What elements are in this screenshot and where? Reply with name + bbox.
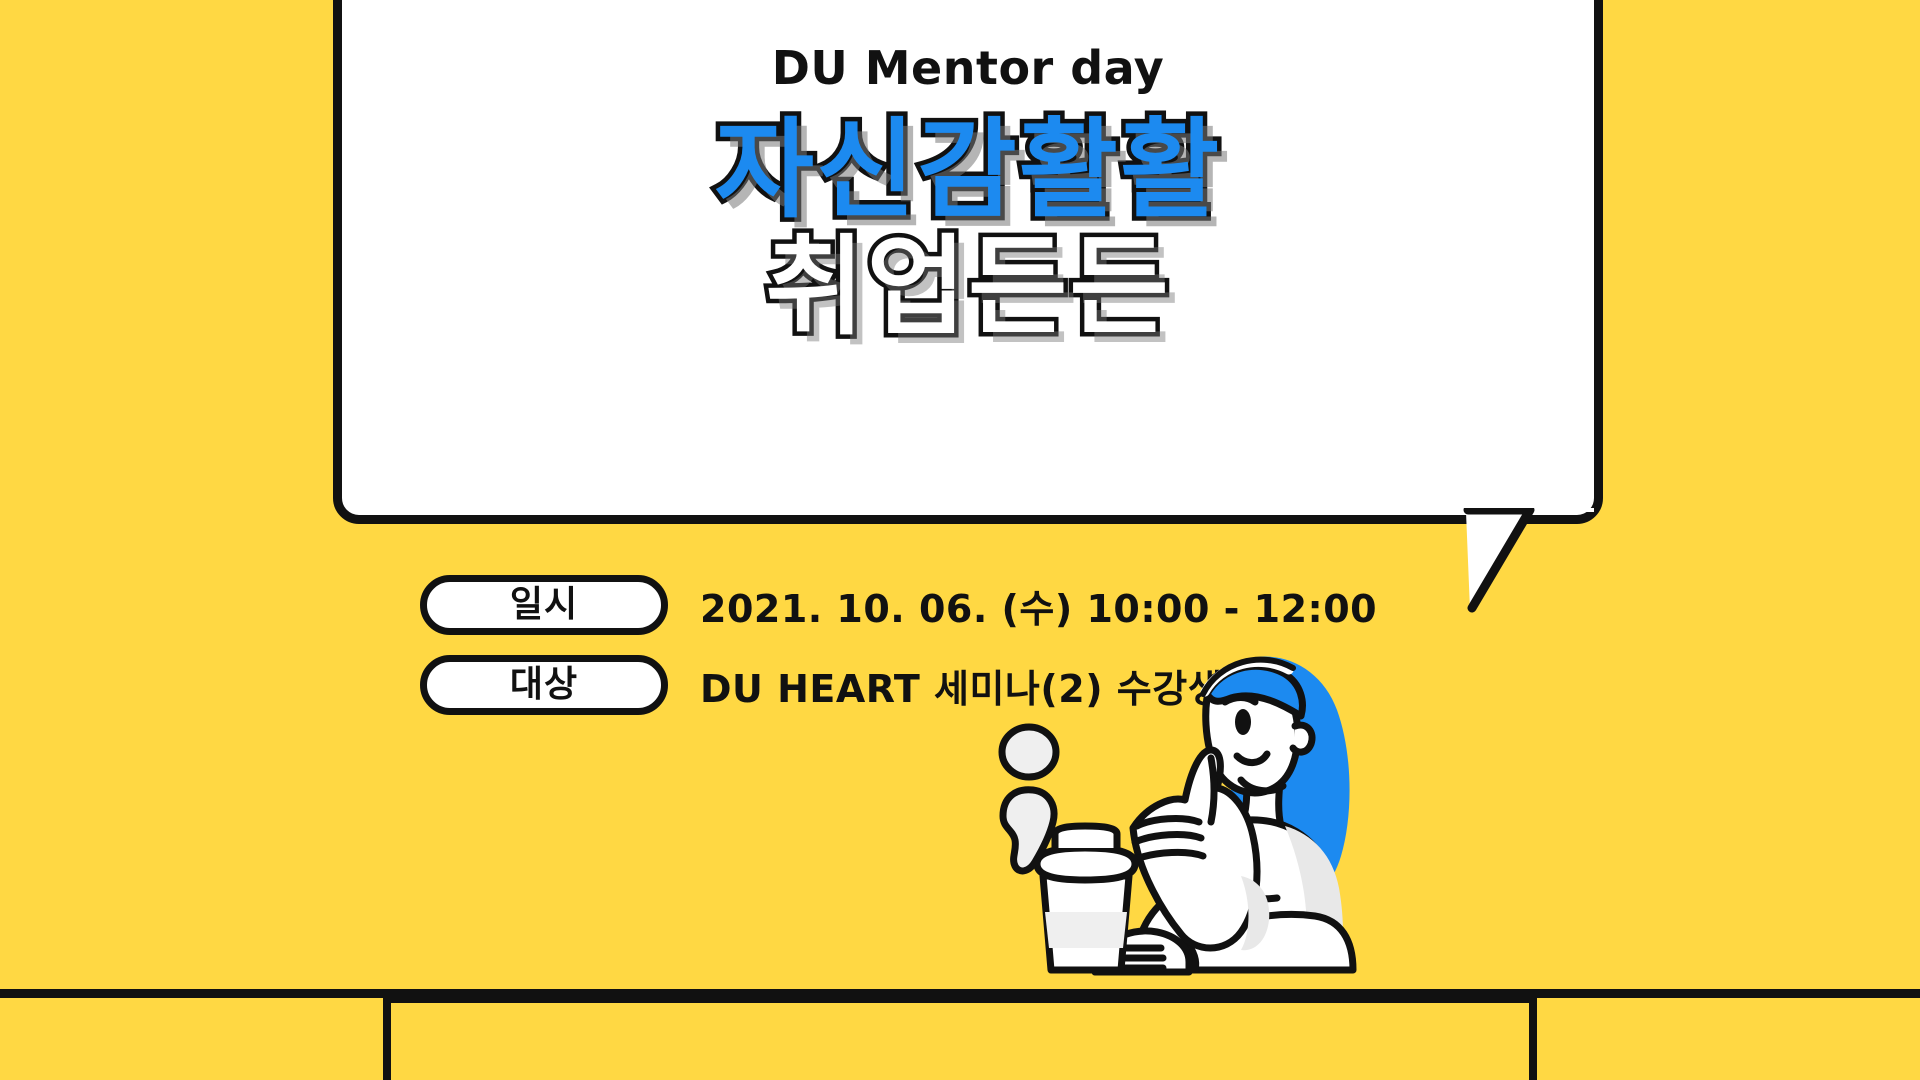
pill-label-audience-text: 대상 xyxy=(510,667,578,703)
pill-label-date-text: 일시 xyxy=(510,587,578,623)
illustration-woman-with-coffee xyxy=(985,640,1485,1000)
info-row-date: 일시 2021. 10. 06. (수) 10:00 - 12:00 xyxy=(420,575,1377,635)
headline: 자신감활활 취업든든 xyxy=(715,113,1222,346)
eye xyxy=(1235,709,1251,735)
speech-bubble-tail xyxy=(1460,508,1600,618)
ear xyxy=(1293,725,1312,752)
coffee-cup-lid xyxy=(1037,848,1135,880)
poster-canvas: DU Mentor day 자신감활활 취업든든 일시 2021. 10. 06… xyxy=(0,0,1920,1080)
thumb-line xyxy=(1211,758,1214,822)
bottom-outlined-panel xyxy=(383,995,1537,1080)
headline-line-1: 자신감활활 xyxy=(715,113,1222,230)
steam-puff-small xyxy=(1002,727,1056,777)
pill-label-date: 일시 xyxy=(420,575,668,635)
coffee-cup-lid-top xyxy=(1055,826,1117,848)
speech-bubble-content: DU Mentor day 자신감활활 취업든든 xyxy=(342,0,1594,515)
info-value-date: 2021. 10. 06. (수) 10:00 - 12:00 xyxy=(700,578,1377,633)
speech-bubble: DU Mentor day 자신감활활 취업든든 xyxy=(333,0,1603,524)
headline-line-2: 취업든든 xyxy=(715,230,1222,347)
pill-label-audience: 대상 xyxy=(420,655,668,715)
coffee-cup-sleeve xyxy=(1045,912,1127,948)
eyebrow-title: DU Mentor day xyxy=(772,45,1165,91)
